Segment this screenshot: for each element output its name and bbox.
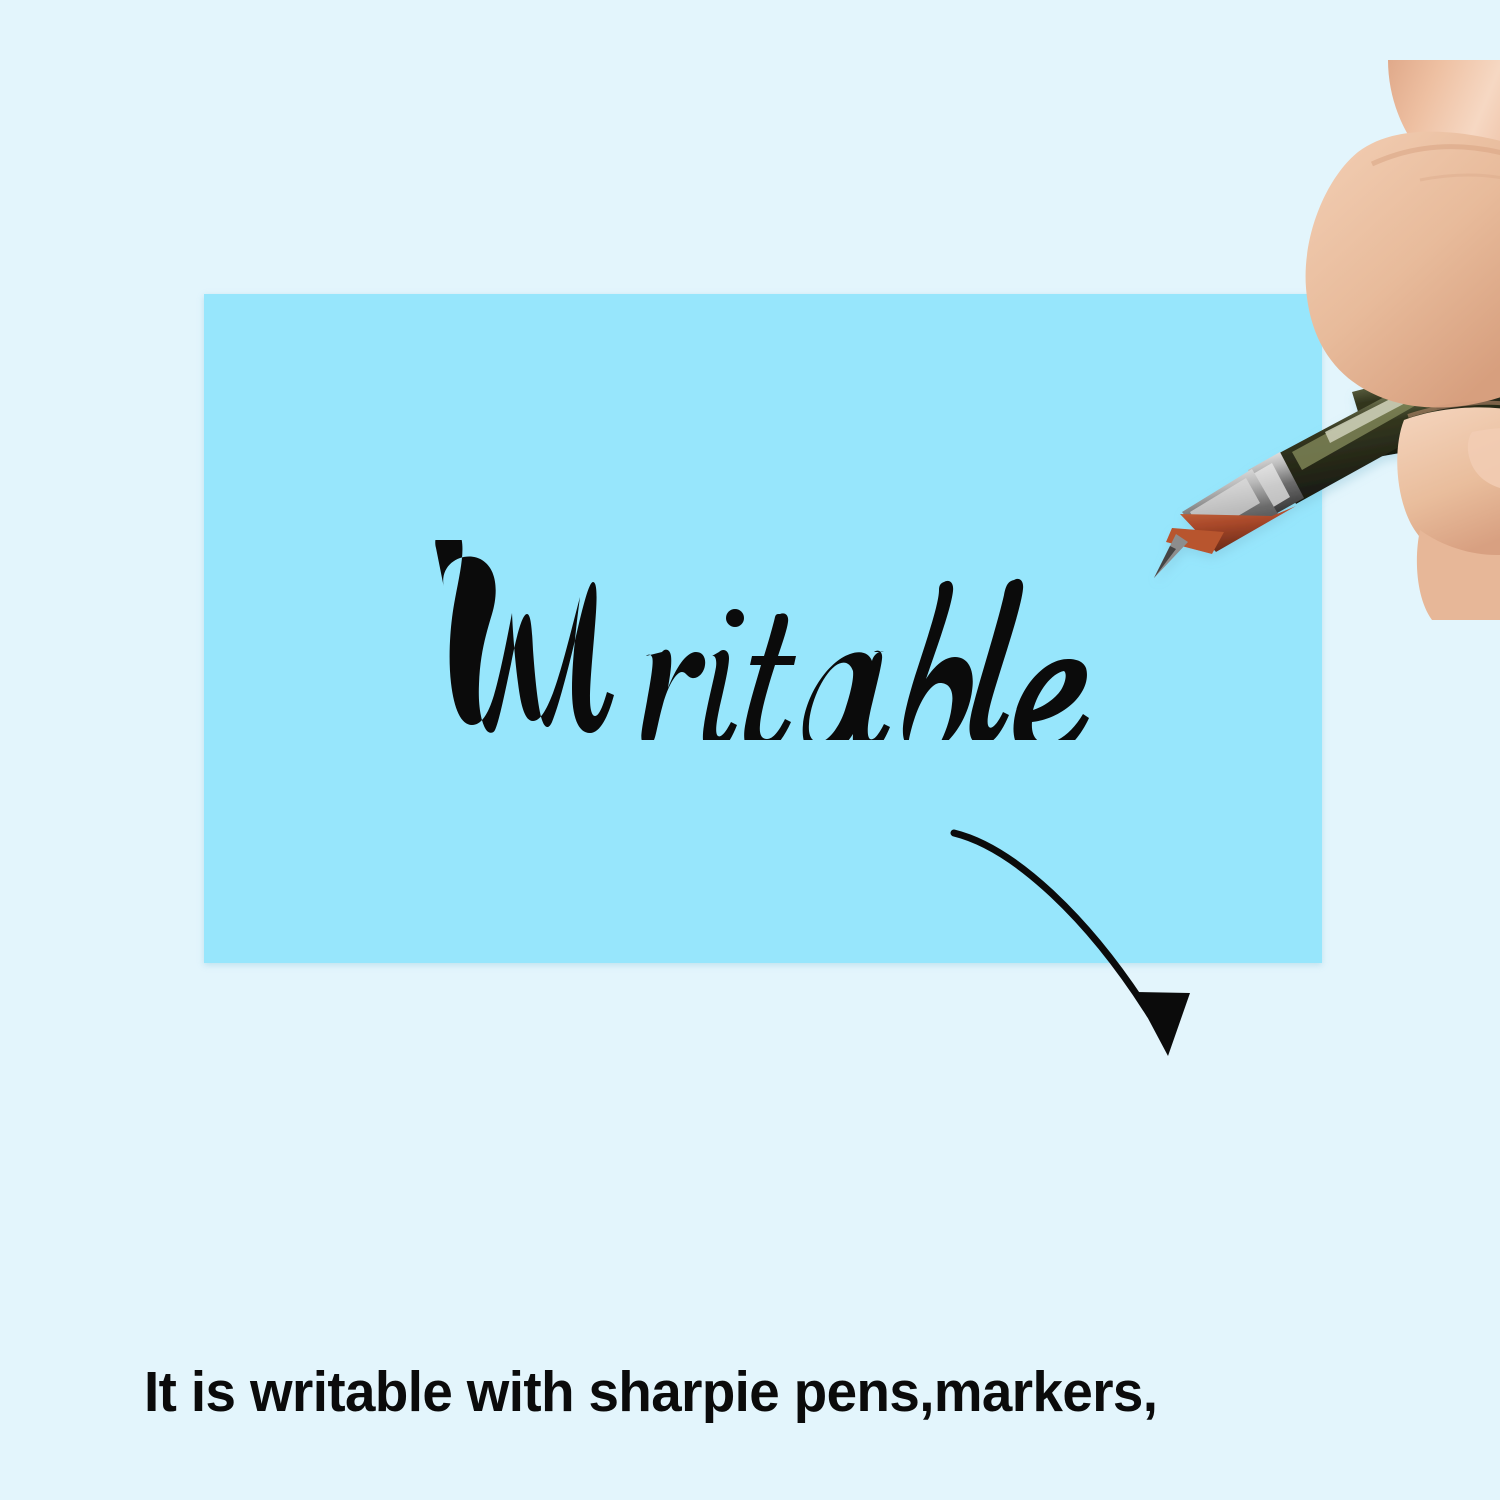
cyan-note-card bbox=[204, 294, 1322, 963]
hand-shape bbox=[1306, 60, 1500, 620]
caption-text: It is writable with sharpie pens,markers… bbox=[144, 1142, 1411, 1500]
product-feature-image: Writable bbox=[0, 0, 1500, 1500]
caption-line-1: It is writable with sharpie pens,markers… bbox=[144, 1342, 1411, 1442]
